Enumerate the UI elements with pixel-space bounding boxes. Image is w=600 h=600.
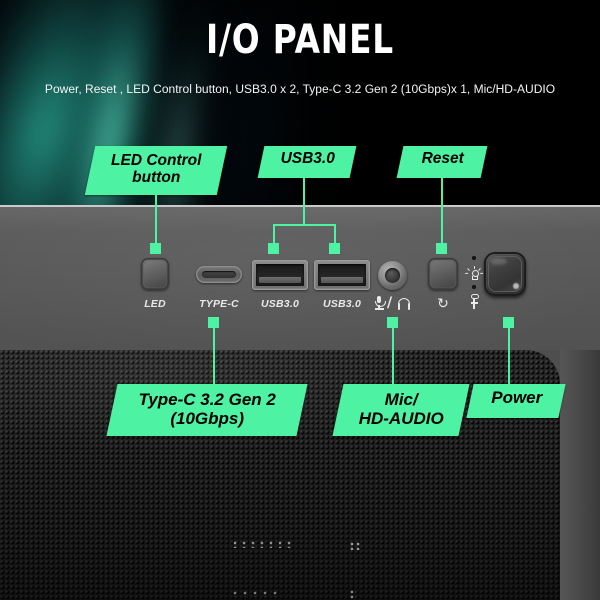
leader-marker-led — [150, 243, 161, 254]
mic-headphone-icon-group: / — [371, 296, 415, 311]
leader-line-usb-stem — [303, 174, 305, 225]
chassis-right-column — [560, 350, 600, 600]
power-button[interactable] — [484, 252, 526, 296]
lamp-icon — [467, 266, 481, 280]
type-c-port[interactable] — [196, 266, 242, 283]
callout-type-c: Type-C 3.2 Gen 2 (10Gbps) — [106, 384, 307, 436]
port-label-usb30-1: USB3.0 — [250, 298, 310, 310]
mesh-highlight-a — [232, 540, 292, 548]
callout-led-control: LED Control button — [85, 146, 227, 195]
usb30-port-2[interactable] — [314, 260, 370, 290]
usb30-port-1[interactable] — [252, 260, 308, 290]
reset-icon: ↻ — [423, 297, 463, 311]
port-label-type-c: TYPE-C — [189, 298, 249, 310]
power-button-gloss — [491, 258, 507, 265]
separator-slash: / — [387, 295, 392, 311]
lamp-ray — [478, 268, 481, 271]
leader-marker-type-c — [208, 317, 219, 328]
leader-line-usb-bridge — [273, 224, 335, 226]
callout-usb30: USB3.0 — [258, 146, 357, 178]
headphone-icon — [397, 298, 411, 310]
callout-power: Power — [466, 384, 565, 418]
leader-line-power — [508, 322, 510, 386]
hdd-stem — [473, 298, 475, 309]
port-label-led: LED — [125, 298, 185, 310]
leader-line-mic-audio — [392, 322, 394, 386]
leader-line-usb-left — [273, 224, 275, 245]
leader-marker-mic-audio — [387, 317, 398, 328]
power-led-dot — [472, 256, 476, 260]
mic-base — [375, 308, 384, 310]
port-label-usb30-2: USB3.0 — [312, 298, 372, 310]
leader-marker-power — [503, 317, 514, 328]
reset-button[interactable] — [428, 258, 458, 290]
callout-mic-audio: Mic/ HD-AUDIO — [332, 384, 469, 436]
audio-jack[interactable] — [378, 261, 407, 290]
mic-arc — [375, 301, 386, 307]
headphone-cup-left — [398, 303, 400, 310]
mesh-highlight-d — [350, 590, 356, 599]
lamp-ray — [467, 268, 470, 271]
page-title: I/O PANEL — [54, 17, 546, 63]
power-button-dot — [513, 283, 519, 289]
hdd-icon — [469, 294, 480, 309]
page-subtitle: Power, Reset , LED Control button, USB3.… — [9, 82, 591, 96]
leader-line-reset — [441, 174, 443, 248]
leader-line-type-c — [213, 322, 215, 386]
lamp-ray — [474, 266, 475, 269]
leader-line-usb-right — [334, 224, 336, 245]
io-panel-infographic: I/O PANEL Power, Reset , LED Control but… — [0, 0, 600, 600]
usb-tongue — [321, 277, 363, 283]
mesh-highlight-c — [232, 590, 280, 597]
microphone-icon — [373, 296, 385, 310]
leader-line-led — [155, 189, 157, 248]
leader-marker-usb-1 — [268, 243, 279, 254]
headphone-cup-right — [408, 303, 410, 310]
mesh-highlight-b — [350, 542, 360, 550]
leader-marker-usb-2 — [329, 243, 340, 254]
leader-marker-reset — [436, 243, 447, 254]
lamp-base — [472, 276, 478, 280]
hdd-bar — [471, 302, 478, 304]
usb-tongue — [259, 277, 301, 283]
led-control-button[interactable] — [141, 258, 169, 290]
hdd-led-dot — [472, 285, 476, 289]
